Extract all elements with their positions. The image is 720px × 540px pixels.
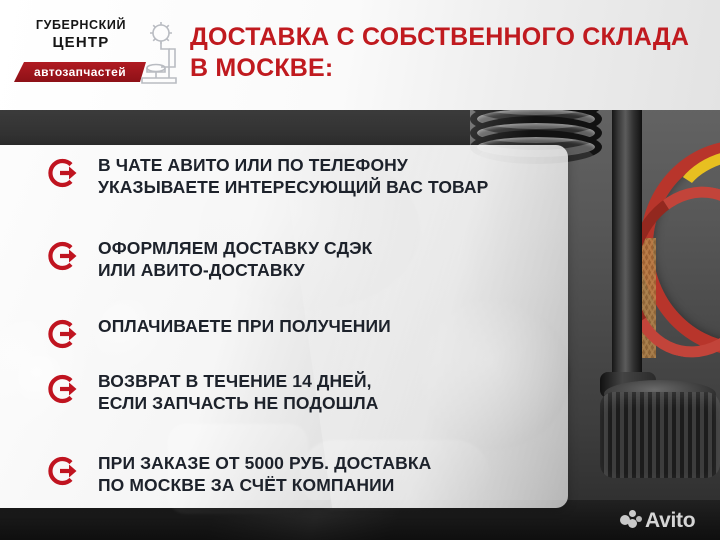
list-item-text: ОПЛАЧИВАЕТЕ ПРИ ПОЛУЧЕНИИ (98, 315, 391, 337)
logo-line-2: ЦЕНТР (22, 34, 140, 52)
logo-line-1: ГУБЕРНСКИЙ (22, 18, 140, 32)
list-item: ВОЗВРАТ В ТЕЧЕНИЕ 14 ДНЕЙ, ЕСЛИ ЗАПЧАСТЬ… (46, 370, 379, 414)
list-item: ОПЛАЧИВАЕТЕ ПРИ ПОЛУЧЕНИИ (46, 315, 391, 351)
list-item-text: ОФОРМЛЯЕМ ДОСТАВКУ СДЭК ИЛИ АВИТО-ДОСТАВ… (98, 237, 372, 281)
header: ГУБЕРНСКИЙ ЦЕНТР автозапчастей (0, 0, 720, 110)
list-item: ПРИ ЗАКАЗЕ ОТ 5000 РУБ. ДОСТАВКА ПО МОСК… (46, 452, 431, 496)
arrow-right-circle-icon (46, 372, 80, 406)
list-item-text: ПРИ ЗАКАЗЕ ОТ 5000 РУБ. ДОСТАВКА ПО МОСК… (98, 452, 431, 496)
divider-band (0, 110, 470, 146)
benefits-panel: В ЧАТЕ АВИТО ИЛИ ПО ТЕЛЕФОНУ УКАЗЫВАЕТЕ … (0, 145, 568, 508)
page-title: ДОСТАВКА С СОБСТВЕННОГО СКЛАДА В МОСКВЕ: (190, 22, 710, 84)
avito-wordmark: Avito (645, 510, 695, 531)
company-logo: ГУБЕРНСКИЙ ЦЕНТР автозапчастей (22, 18, 172, 92)
list-item-text: ВОЗВРАТ В ТЕЧЕНИЕ 14 ДНЕЙ, ЕСЛИ ЗАПЧАСТЬ… (98, 370, 379, 414)
arrow-right-circle-icon (46, 317, 80, 351)
arrow-right-circle-icon (46, 454, 80, 488)
advertisement-banner: ГУБЕРНСКИЙ ЦЕНТР автозапчастей (0, 0, 720, 540)
list-item: В ЧАТЕ АВИТО ИЛИ ПО ТЕЛЕФОНУ УКАЗЫВАЕТЕ … (46, 154, 488, 198)
logo-banner: автозапчастей (14, 62, 146, 82)
list-item: ОФОРМЛЯЕМ ДОСТАВКУ СДЭК ИЛИ АВИТО-ДОСТАВ… (46, 237, 372, 281)
arrow-right-circle-icon (46, 239, 80, 273)
avito-watermark: Avito (620, 508, 712, 532)
logo-wordmark: ГУБЕРНСКИЙ ЦЕНТР (22, 18, 140, 52)
microscope-outline-icon (134, 20, 180, 90)
list-item-text: В ЧАТЕ АВИТО ИЛИ ПО ТЕЛЕФОНУ УКАЗЫВАЕТЕ … (98, 154, 488, 198)
avito-dots-icon (620, 510, 642, 530)
logo-banner-label: автозапчастей (34, 66, 126, 78)
arrow-right-circle-icon (46, 156, 80, 190)
